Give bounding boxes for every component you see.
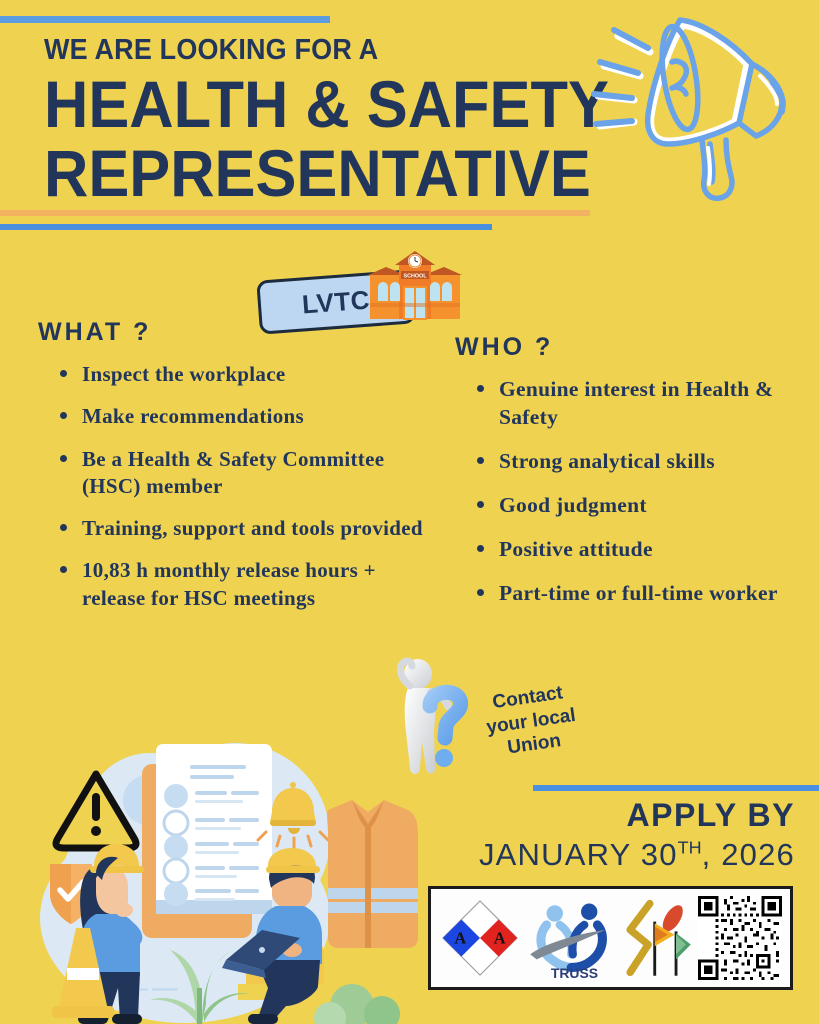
lvtc-label: LVTC (301, 284, 371, 320)
who-heading: WHO ? (455, 333, 807, 362)
top-blue-rule (0, 16, 330, 23)
list-item: Part-time or full-time worker (477, 580, 807, 608)
list-item: Positive attitude (477, 536, 807, 564)
qr-code[interactable] (698, 896, 782, 980)
megaphone-icon (576, 8, 816, 208)
apply-date: JANUARY 30TH, 2026 (479, 837, 795, 873)
headline-title-line2: REPRESENTATIVE (44, 140, 609, 207)
svg-text:T: T (475, 908, 486, 927)
mid-blue-rule (0, 224, 492, 230)
list-item: Be a Health & Safety Committee (HSC) mem… (60, 446, 438, 501)
list-item: Strong analytical skills (477, 448, 807, 476)
what-list: Inspect the workplace Make recommendatio… (38, 361, 438, 612)
svg-text:E: E (475, 949, 486, 968)
list-item: 10,83 h monthly release hours + release … (60, 557, 438, 612)
apply-date-year: , 2026 (702, 837, 795, 872)
apply-date-main: JANUARY 30 (479, 837, 678, 872)
safety-vest-icon (327, 800, 418, 948)
who-list: Genuine interest in Health & Safety Stro… (455, 376, 807, 608)
school-building-icon: SCHOOL (366, 249, 464, 325)
orange-rule (0, 210, 590, 216)
spi-flags-logo[interactable] (623, 897, 693, 979)
workplace-safety-illustration (0, 688, 420, 1024)
truss-logo-text: TRUSS (551, 965, 598, 979)
who-column: WHO ? Genuine interest in Health & Safet… (455, 333, 807, 624)
headline-eyebrow: WE ARE LOOKING FOR A (44, 36, 609, 65)
apply-label: APPLY BY (479, 797, 795, 834)
what-heading: WHAT ? (38, 318, 438, 347)
truss-logo[interactable]: TRUSS (526, 897, 618, 979)
union-contact-text: Contact your local Union (472, 679, 591, 764)
svg-text:SCHOOL: SCHOOL (403, 273, 427, 279)
what-column: WHAT ? Inspect the workplace Make recomm… (38, 318, 438, 627)
apply-block: APPLY BY JANUARY 30TH, 2026 (479, 797, 795, 873)
list-item: Genuine interest in Health & Safety (477, 376, 807, 432)
poster-canvas: WE ARE LOOKING FOR A HEALTH & SAFETY REP… (0, 0, 819, 1024)
svg-text:A: A (494, 929, 506, 948)
apply-blue-rule (533, 785, 819, 791)
headline-title-line1: HEALTH & SAFETY (44, 71, 609, 138)
list-item: Inspect the workplace (60, 361, 438, 388)
headline-block: WE ARE LOOKING FOR A HEALTH & SAFETY REP… (44, 36, 651, 208)
logo-strip: T A A E TRUSS (428, 886, 793, 990)
svg-text:A: A (455, 929, 467, 948)
list-item: Training, support and tools provided (60, 515, 438, 542)
list-item: Good judgment (477, 492, 807, 520)
apply-date-ordinal: TH (678, 838, 702, 858)
atae-logo[interactable]: T A A E (439, 897, 521, 979)
list-item: Make recommendations (60, 403, 438, 430)
